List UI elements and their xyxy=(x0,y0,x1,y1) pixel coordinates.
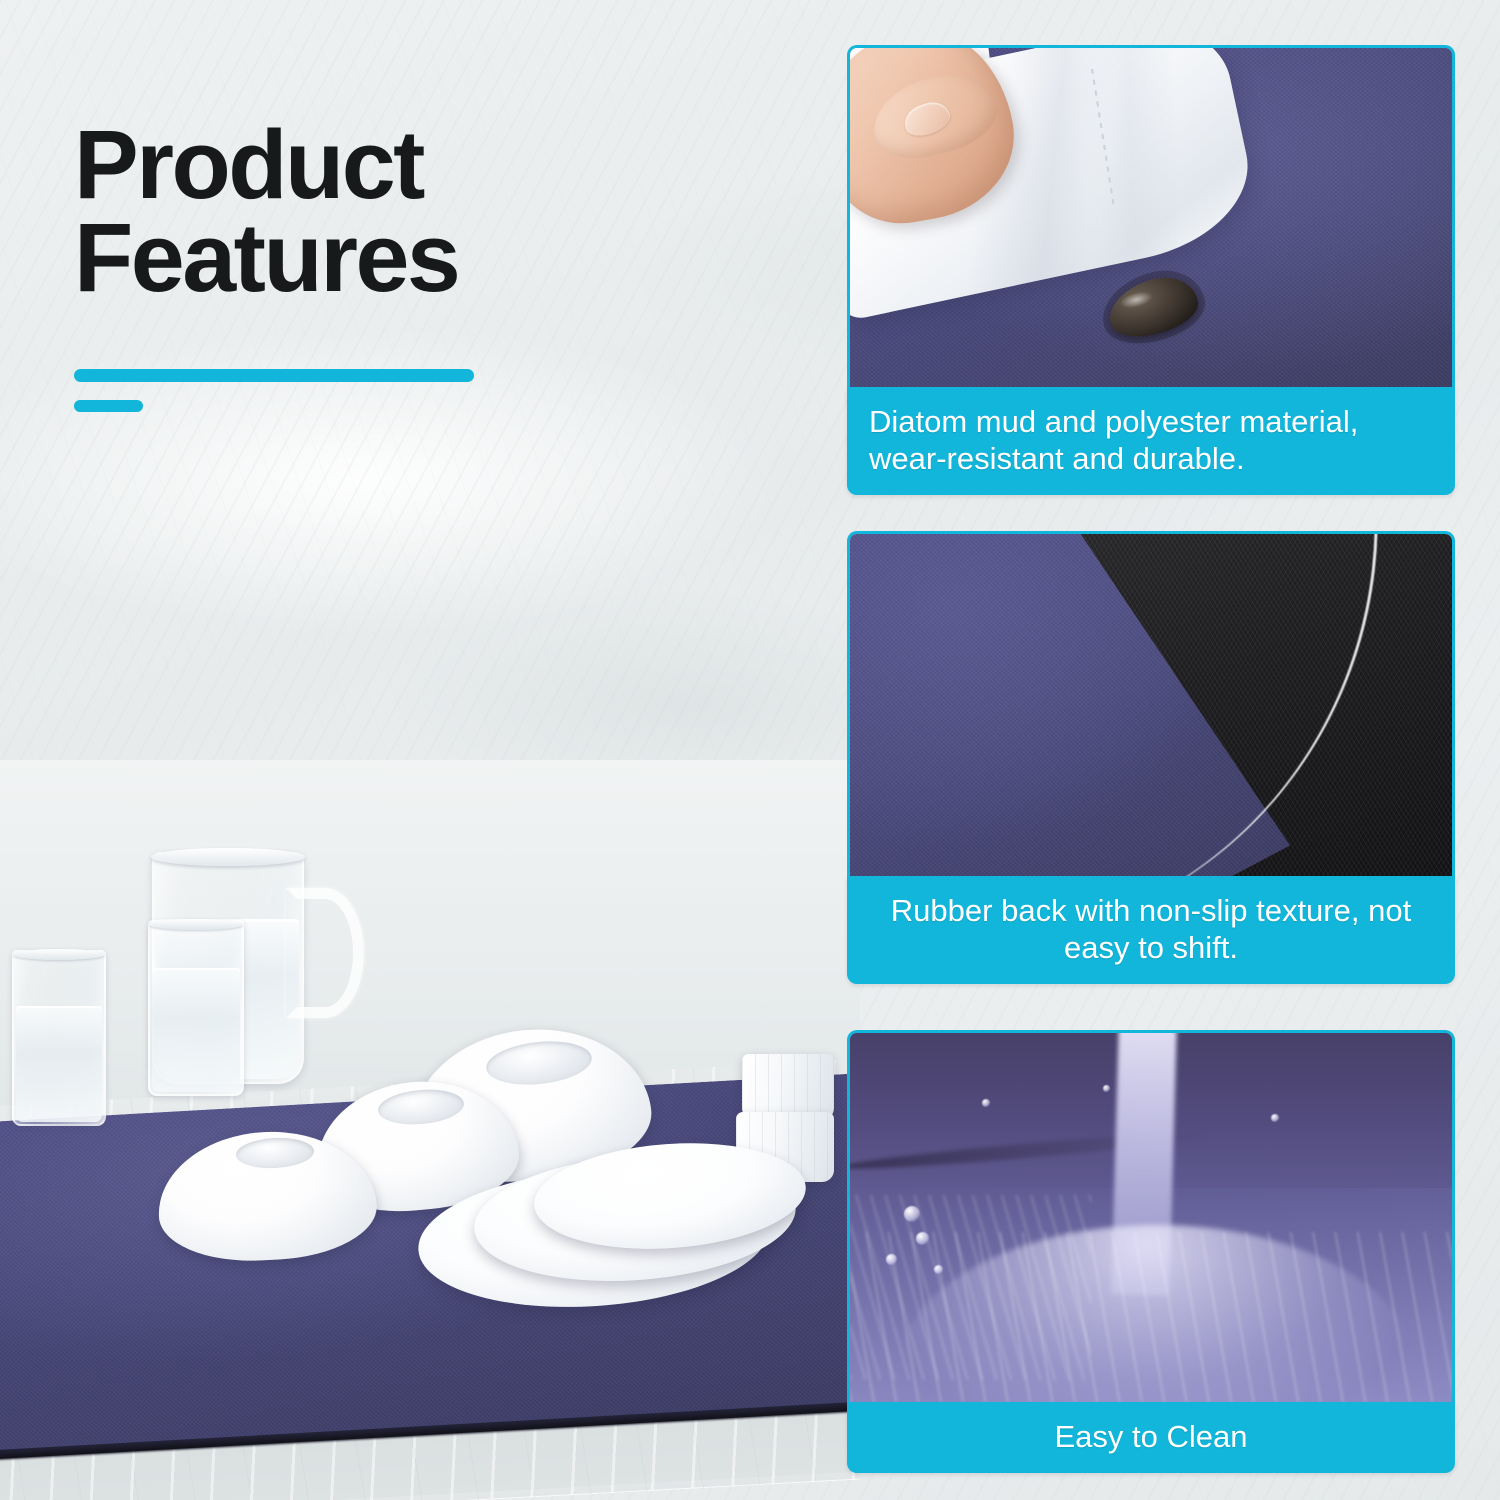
tumbler-water xyxy=(152,968,240,1092)
tumbler-water xyxy=(16,1006,102,1122)
title-underline-short xyxy=(74,400,143,412)
feature-panel-easy-clean: Easy to Clean xyxy=(847,1030,1455,1473)
feature-caption-material: Diatom mud and polyester material, wear-… xyxy=(847,387,1455,495)
ramekin-stack-top xyxy=(742,1054,834,1120)
feature-photo-easy-clean xyxy=(847,1030,1455,1402)
hero-product-photo xyxy=(0,760,860,1500)
feature-photo-material xyxy=(847,45,1455,387)
feature-caption-easy-clean: Easy to Clean xyxy=(847,1402,1455,1473)
feature-photo-non-slip xyxy=(847,531,1455,876)
water-sheen xyxy=(850,1232,1452,1402)
glass-tumbler-middle xyxy=(148,920,244,1096)
glass-tumbler-left xyxy=(12,950,106,1126)
kitchen-wall xyxy=(0,760,860,1110)
page-title-block: Product Features xyxy=(74,118,714,304)
page-title: Product Features xyxy=(74,118,714,304)
pitcher-handle xyxy=(286,888,364,1018)
water-bead xyxy=(1103,1085,1110,1092)
feature-panel-non-slip: Rubber back with non-slip texture, not e… xyxy=(847,531,1455,984)
feature-panel-material: Diatom mud and polyester material, wear-… xyxy=(847,45,1455,495)
title-underline-long xyxy=(74,369,474,382)
tumbler-rim xyxy=(149,919,243,930)
feature-caption-non-slip: Rubber back with non-slip texture, not e… xyxy=(847,876,1455,984)
pitcher-rim xyxy=(151,848,305,866)
tumbler-rim xyxy=(13,949,105,960)
